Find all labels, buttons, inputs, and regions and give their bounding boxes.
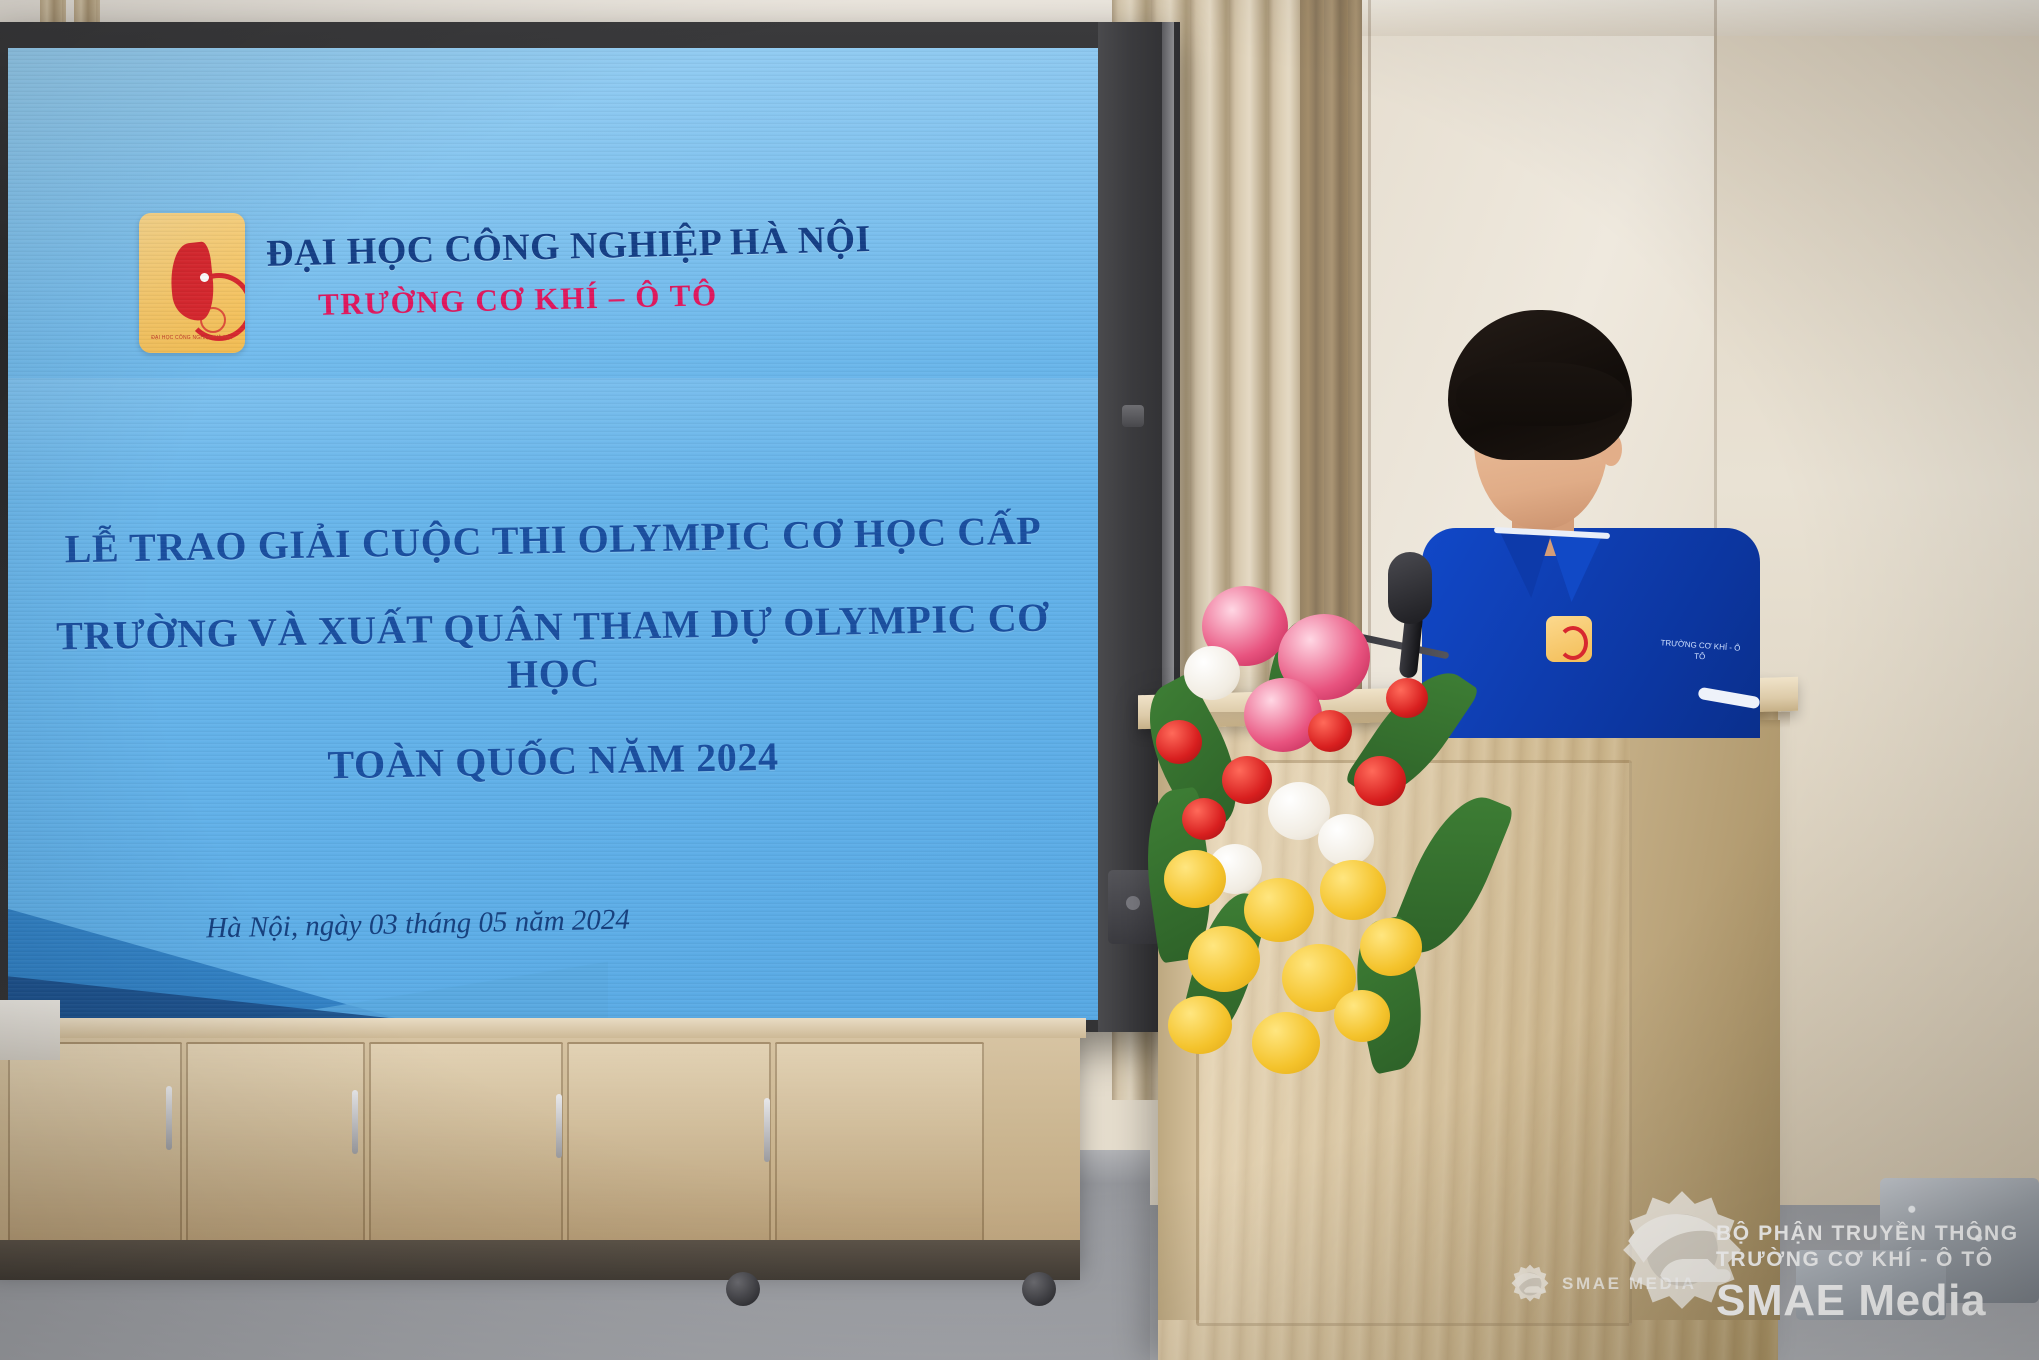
red-flower [1222, 756, 1272, 804]
red-flower [1386, 678, 1428, 718]
logo-caption: ĐẠI HỌC CÔNG NGHIỆP HÀ NỘI [149, 333, 235, 343]
yellow-orchid [1320, 860, 1386, 920]
credenza-door[interactable] [8, 1042, 182, 1244]
caster-wheel [1022, 1272, 1056, 1306]
credenza-handle[interactable] [556, 1094, 562, 1158]
photo-scene: ĐẠI HỌC CÔNG NGHIỆP HÀ NỘI ĐẠI HỌC CÔNG … [0, 0, 2039, 1360]
credenza-door[interactable] [369, 1042, 563, 1244]
red-flower [1354, 756, 1406, 806]
haui-university-logo: ĐẠI HỌC CÔNG NGHIỆP HÀ NỘI [139, 213, 245, 353]
credenza-handle[interactable] [352, 1090, 358, 1154]
credenza-handle[interactable] [166, 1086, 172, 1150]
slide-title-line-2: TRƯỜNG VÀ XUẤT QUÂN THAM DỰ OLYMPIC CƠ H… [8, 593, 1098, 708]
logo-gear-icon [200, 307, 226, 333]
shirt-chest-logo-icon [1546, 616, 1592, 662]
credenza-door[interactable] [567, 1042, 771, 1244]
watermark-main: BỘ PHẬN TRUYỀN THÔNG TRƯỜNG CƠ KHÍ - Ô T… [1716, 1222, 2019, 1326]
yellow-orchid [1244, 878, 1314, 942]
credenza-top-surface [0, 1018, 1086, 1038]
red-flower [1308, 710, 1352, 752]
slide-title-line-3: TOÀN QUỐC NĂM 2024 [8, 727, 1098, 795]
red-flower [1156, 720, 1202, 764]
yellow-orchid [1360, 918, 1422, 976]
screen-light-band [8, 378, 1098, 498]
speaker-hair-fringe [1456, 362, 1626, 426]
side-cabinet-block [0, 1000, 60, 1060]
slide-date-line: Hà Nội, ngày 03 tháng 05 năm 2024 [8, 899, 828, 949]
yellow-orchid [1188, 926, 1260, 992]
credenza-door[interactable] [186, 1042, 365, 1244]
yellow-orchid [1164, 850, 1226, 908]
slide-title-line-1: LỄ TRAO GIẢI CUỘC THI OLYMPIC CƠ HỌC CẤP [8, 506, 1098, 574]
screen-control-button[interactable] [1122, 405, 1144, 427]
credenza-handle[interactable] [764, 1098, 770, 1162]
credenza-plinth [0, 1240, 1080, 1280]
wall-top-strip [1362, 0, 2039, 36]
logo-mark-icon [155, 229, 225, 321]
watermark-line-3: SMAE Media [1716, 1276, 2019, 1326]
white-flower [1184, 646, 1240, 700]
led-display-screen: ĐẠI HỌC CÔNG NGHIỆP HÀ NỘI ĐẠI HỌC CÔNG … [8, 48, 1098, 1020]
slide-title-block: LỄ TRAO GIẢI CUỘC THI OLYMPIC CƠ HỌC CẤP… [8, 516, 1098, 784]
watermark-line-1: BỘ PHẬN TRUYỀN THÔNG [1716, 1222, 2019, 1246]
flower-arrangement [1148, 560, 1528, 1100]
yellow-orchid [1334, 990, 1390, 1042]
orchid-flower [1318, 814, 1374, 866]
gear-car-icon [1508, 1262, 1552, 1306]
logo-dot-shape [200, 273, 209, 282]
screen-status-led-icon [1126, 896, 1140, 910]
credenza-door[interactable] [775, 1042, 984, 1244]
caster-wheel [726, 1272, 760, 1306]
yellow-orchid [1168, 996, 1232, 1054]
yellow-orchid [1252, 1012, 1320, 1074]
red-flower [1182, 798, 1226, 840]
watermark-line-2: TRƯỜNG CƠ KHÍ - Ô TÔ [1716, 1248, 2019, 1272]
